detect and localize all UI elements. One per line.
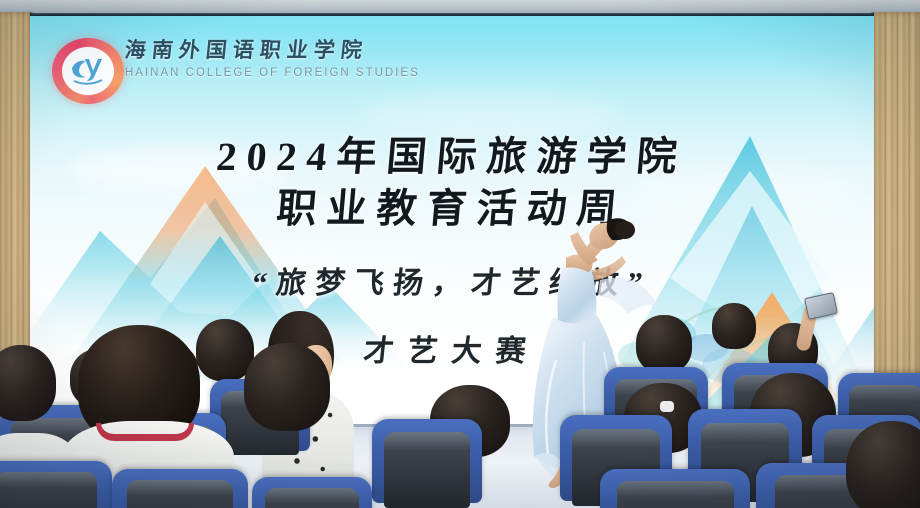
event-title-line-1: 2024年国际旅游学院 xyxy=(30,124,874,182)
audience-head xyxy=(0,345,56,421)
audience-head xyxy=(636,315,692,373)
college-name-en: HAINAN COLLEGE OF FOREIGN STUDIES xyxy=(125,67,425,79)
event-title-line-2: 职业教育活动周 xyxy=(30,176,874,234)
audience-head xyxy=(712,303,756,349)
emblem-inner-disc xyxy=(62,47,114,95)
auditorium-seat xyxy=(372,419,482,503)
auditorium-seat-front xyxy=(252,477,372,508)
audience-area xyxy=(0,293,920,508)
college-name-block: 海南外国语职业学院 HAINAN COLLEGE OF FOREIGN STUD… xyxy=(125,34,425,79)
emblem-mark-icon xyxy=(68,54,108,88)
smartphone-icon xyxy=(804,292,838,320)
lanyard xyxy=(96,423,194,441)
stage-scene: 海南外国语职业学院 HAINAN COLLEGE OF FOREIGN STUD… xyxy=(0,0,920,508)
hair-clip xyxy=(660,401,674,412)
college-emblem-icon xyxy=(52,38,124,104)
dancer-hair-bun xyxy=(615,221,635,239)
auditorium-seat-front xyxy=(112,469,248,508)
auditorium-seat-front xyxy=(600,469,750,508)
auditorium-seat-front xyxy=(0,461,112,508)
college-name-cn: 海南外国语职业学院 xyxy=(123,34,426,64)
audience-head-large xyxy=(244,343,330,431)
